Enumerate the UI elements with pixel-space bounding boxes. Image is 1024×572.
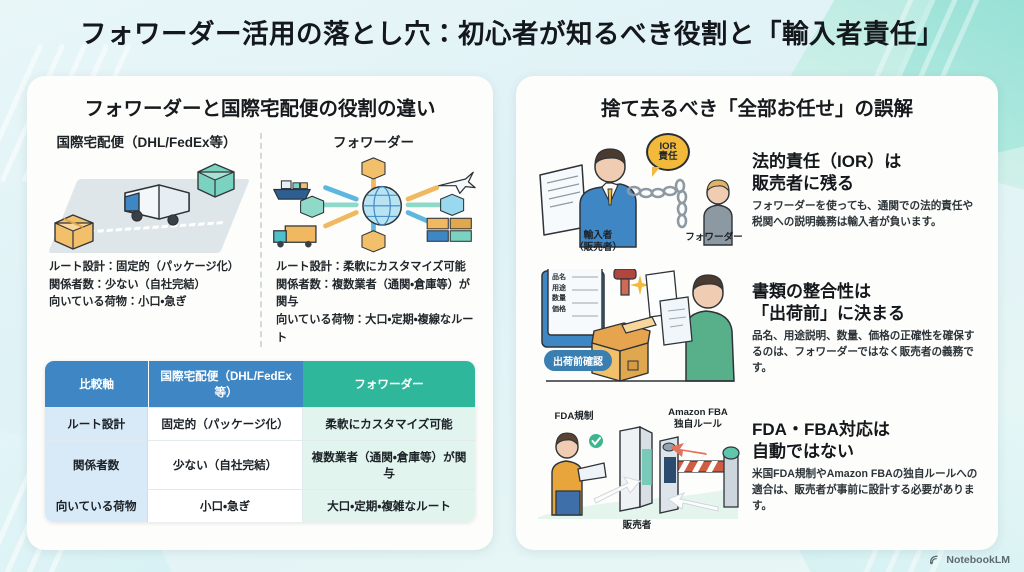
page-title: フォワーダー活用の落とし穴：初心者が知るべき役割と「輸入者責任」 [0,12,1024,51]
preshipment-illustration: 品名 用途 数量 価格 出荷前確認 [528,269,746,389]
myth-documents-text: 書類の整合性は 「出荷前」に決まる 品名、用途説明、数量、価格の正確性を確保する… [746,281,982,377]
left-panel-title: フォワーダーと国際宅配便の役割の違い [27,92,493,121]
ior-speech-bubble: IOR 責任 [646,133,690,171]
delivery-truck-icon [119,177,195,227]
forwarder-bullet-0: ルート設計：柔軟にカスタマイズ可能 [276,259,479,277]
table-row: 関係者数 少ない（自社完結） 複数業者（通関・倉庫等）が関与 [45,440,475,489]
table-cell-courier: 少ない（自社完結） [148,440,303,489]
myth-fda-fba-text: FDA・FBA対応は 自動ではない 米国FDA規制やAmazon FBAの独自ル… [746,419,982,515]
label-seller: 販売者 [528,520,746,532]
table-cell-forwarder: 大口・定期・複雑なルート [303,489,475,522]
table-header-row: 比較軸 国際宅配便（DHL/FedEx等） フォワーダー [45,361,475,407]
table-cell-forwarder: 複数業者（通関・倉庫等）が関与 [303,440,475,489]
comparison-table: 比較軸 国際宅配便（DHL/FedEx等） フォワーダー ルート設計 固定的（パ… [45,361,475,522]
table-cell-axis: 向いている荷物 [45,489,148,522]
courier-bullet-0: ルート設計：固定的（パッケージ化） [49,259,252,277]
comparison-columns: 国際宅配便（DHL/FedEx等） [27,131,493,347]
table-cell-axis: ルート設計 [45,407,148,440]
label-importer: 輸入者 （販売者） [556,230,640,253]
right-panel-card: 捨て去るべき「全部お任せ」の誤解 [516,76,998,550]
right-panel-title: 捨て去るべき「全部お任せ」の誤解 [516,92,998,121]
preshipment-check-chip: 出荷前確認 [544,350,612,371]
myth-documents-body: 品名、用途説明、数量、価格の正確性を確保するのは、フォワーダーではなく販売者の義… [752,329,982,377]
forwarder-column-heading: フォワーダー [268,131,479,151]
clipboard-field-2: 数量 [552,294,566,305]
myth-fda-fba-heading: FDA・FBA対応は 自動ではない [752,419,982,463]
courier-bullet-1: 関係者数：少ない（自社完結） [49,277,252,295]
table-header-forwarder: フォワーダー [303,361,475,407]
label-forwarder: フォワーダー [674,232,754,244]
label-fda-regulation: FDA規制 [538,411,610,423]
left-panel-card: フォワーダーと国際宅配便の役割の違い 国際宅配便（DHL/FedEx等） [27,76,493,550]
package-icon-teal [194,159,238,199]
label-amazon-fba-rules: Amazon FBA 独自ルール [652,407,744,430]
myth-ior-text: 法的責任（IOR）は 販売者に残る フォワーダーを使っても、通関での法的責任や税… [746,151,982,231]
clipboard-field-list: 品名 用途 数量 価格 [552,273,566,315]
myth-ior-heading: 法的責任（IOR）は 販売者に残る [752,151,982,195]
myth-fda-fba-body: 米国FDA規制やAmazon FBAの独自ルールへの適合は、販売者が事前に設計す… [752,467,982,515]
myth-item-fda-fba: FDA規制 Amazon FBA 独自ルール 販売者 FDA・FBA対応は 自動… [516,403,998,527]
containers-icon [427,218,471,241]
clipboard-field-1: 用途 [552,284,566,295]
forwarder-bullets: ルート設計：柔軟にカスタマイズ可能 関係者数：複数業者（通関・倉庫等）が関与 向… [268,259,479,347]
forwarder-bullet-1: 関係者数：複数業者（通関・倉庫等）が関与 [276,277,479,312]
column-divider [260,133,262,347]
comparison-column-forwarder: フォワーダー [260,131,487,347]
courier-illustration [41,155,252,259]
myth-item-ior: IOR 責任 輸入者 （販売者） フォワーダー 法的責任（IOR）は 販売者に残… [516,127,998,251]
myth-ior-body: フォワーダーを使っても、通関での法的責任や税関への説明義務は輸入者が負います。 [752,199,982,231]
table-header-axis: 比較軸 [45,361,148,407]
courier-column-heading: 国際宅配便（DHL/FedEx等） [41,131,252,151]
truck-icon [274,226,316,247]
table-cell-courier: 小口・急ぎ [148,489,303,522]
table-cell-forwarder: 柔軟にカスタマイズ可能 [303,407,475,440]
myth-documents-heading: 書類の整合性は 「出荷前」に決まる [752,281,982,325]
package-icon-orange [51,209,97,251]
courier-bullet-2: 向いている荷物：小口・急ぎ [49,294,252,312]
watermark-label: NotebookLM [946,554,1010,566]
ior-illustration: IOR 責任 輸入者 （販売者） フォワーダー [528,131,746,251]
clipboard-field-3: 価格 [552,305,566,316]
table-row: 向いている荷物 小口・急ぎ 大口・定期・複雑なルート [45,489,475,522]
table-header-courier: 国際宅配便（DHL/FedEx等） [148,361,303,407]
hub-network-svg [268,155,479,255]
comparison-column-courier: 国際宅配便（DHL/FedEx等） [33,131,260,347]
ior-bubble-line-2: 責任 [658,152,677,162]
plane-icon [439,172,475,193]
ship-icon [274,181,310,199]
watermark: NotebookLM [929,553,1010,566]
table-row: ルート設計 固定的（パッケージ化） 柔軟にカスタマイズ可能 [45,407,475,440]
myth-item-documents: 品名 用途 数量 価格 出荷前確認 書類の整合性は 「出荷前」に決まる 品名、用… [516,265,998,389]
forwarder-bullet-2: 向いている荷物：大口・定期・複線なルート [276,312,479,347]
table-cell-axis: 関係者数 [45,440,148,489]
notebooklm-icon [929,553,942,566]
clipboard-field-0: 品名 [552,273,566,284]
regulatory-gates-illustration: FDA規制 Amazon FBA 独自ルール 販売者 [528,407,746,527]
courier-bullets: ルート設計：固定的（パッケージ化） 関係者数：少ない（自社完結） 向いている荷物… [41,259,252,312]
table-cell-courier: 固定的（パッケージ化） [148,407,303,440]
forwarder-hub-illustration [268,155,479,259]
